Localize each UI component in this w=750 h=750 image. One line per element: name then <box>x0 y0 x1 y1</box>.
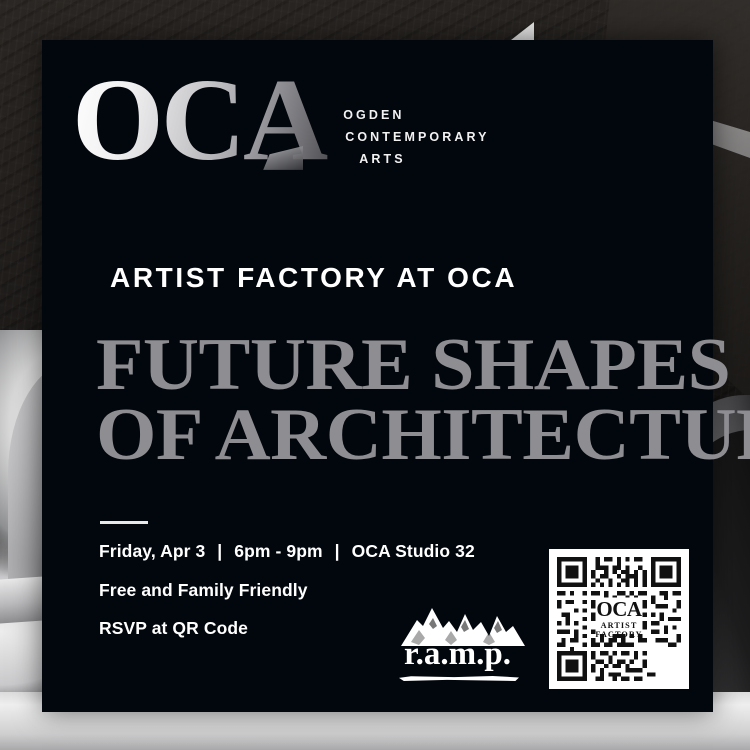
event-detail-line-2: Free and Family Friendly <box>99 582 475 600</box>
oca-logo-tagline: OGDEN CONTEMPORARY ARTS <box>343 105 489 171</box>
ramp-wordmark: r.a.m.p. <box>385 638 530 671</box>
event-kicker: ARTIST FACTORY AT OCA <box>110 262 517 294</box>
event-detail-line-1: Friday, Apr 3 | 6pm - 9pm | OCA Studio 3… <box>99 543 475 561</box>
oca-tagline-line-1: OGDEN <box>343 105 489 127</box>
headline-line-1: FUTURE SHAPES <box>96 330 726 400</box>
qr-code-icon <box>557 557 681 681</box>
event-location: OCA Studio 32 <box>352 541 475 561</box>
oca-logo-mark: OCA <box>72 65 329 176</box>
oca-tagline-line-2: CONTEMPORARY <box>343 127 489 149</box>
ramp-underline-stroke <box>399 676 519 681</box>
flyer-canvas: OCA OGDEN CONTEMPORARY ARTS ARTIST FACTO… <box>0 0 750 750</box>
ramp-logo: r.a.m.p. <box>385 602 530 684</box>
headline-line-2: OF ARCHITECTURE <box>96 400 726 470</box>
detail-separator-2: | <box>328 543 347 561</box>
detail-separator-1: | <box>210 543 229 561</box>
section-divider <box>100 521 148 524</box>
qr-code[interactable]: OCA ARTIST FACTORY <box>549 549 689 689</box>
oca-logo-lockup: OCA OGDEN CONTEMPORARY ARTS <box>72 65 490 176</box>
oca-tagline-line-3: ARTS <box>343 149 489 171</box>
event-time: 6pm - 9pm <box>234 541 322 561</box>
event-date: Friday, Apr 3 <box>99 541 205 561</box>
event-headline: FUTURE SHAPES OF ARCHITECTURE <box>96 330 726 471</box>
